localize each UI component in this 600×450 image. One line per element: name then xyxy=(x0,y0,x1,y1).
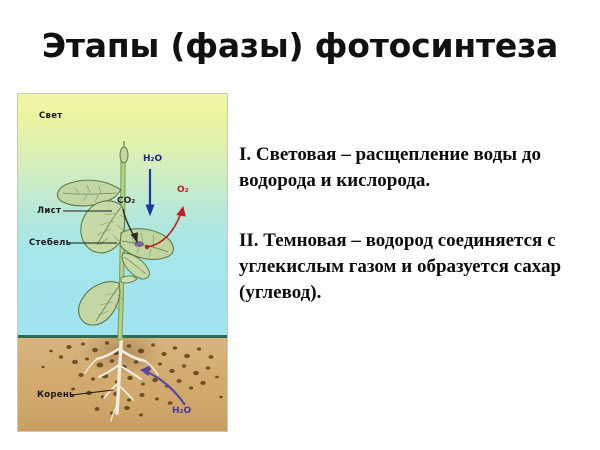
label-water-vapor: H₂O xyxy=(143,154,162,164)
slide-canvas: Этапы (фазы) фотосинтеза xyxy=(0,0,600,450)
label-oxygen: O₂ xyxy=(177,185,189,195)
label-leader-lines xyxy=(17,93,228,432)
phase-two-description: II. Темновая – водород соединяется с угл… xyxy=(239,228,584,306)
label-water-uptake: H₂O xyxy=(172,406,191,416)
label-light: Свет xyxy=(39,111,63,121)
label-carbon-dioxide: CO₂ xyxy=(117,196,135,206)
page-title: Этапы (фазы) фотосинтеза xyxy=(0,26,600,66)
label-leaf: Лист xyxy=(37,206,61,216)
phase-one-description: I. Световая – расщепление воды до водоро… xyxy=(239,142,584,194)
photosynthesis-diagram: Свет Лист Стебель Корень H₂O CO₂ O₂ H₂O xyxy=(17,93,228,432)
label-root: Корень xyxy=(37,390,75,400)
label-stem: Стебель xyxy=(29,238,71,248)
